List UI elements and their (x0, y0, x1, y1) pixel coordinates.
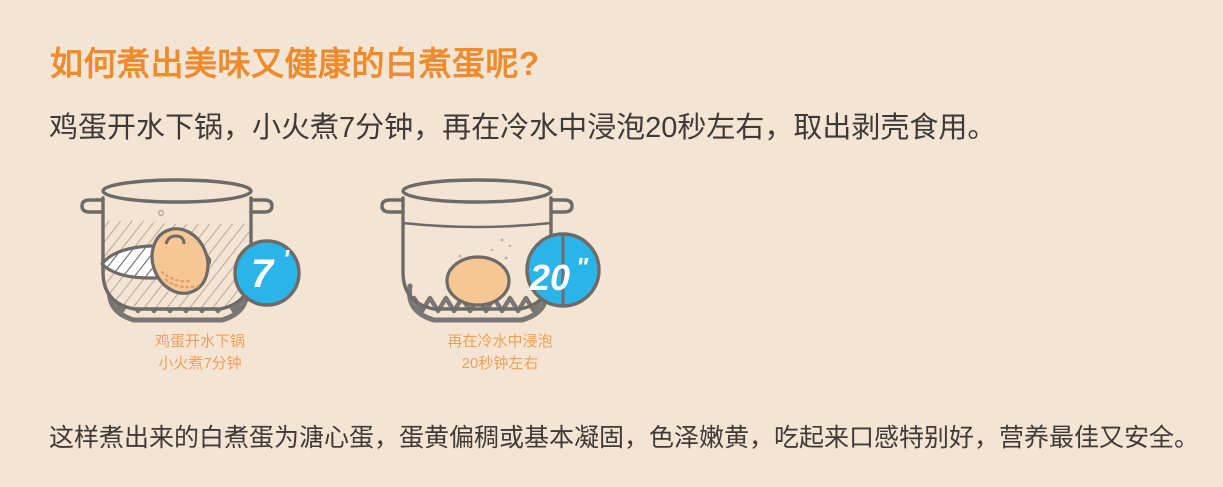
infographic-page: 如何煮出美味又健康的白煮蛋呢? 鸡蛋开水下锅，小火煮7分钟，再在冷水中浸泡20秒… (0, 0, 1223, 487)
footer-paragraph: 这样煮出来的白煮蛋为溏心蛋，蛋黄偏稠或基本凝固，色泽嫩黄，吃起来口感特别好，营养… (49, 418, 1199, 454)
step-2-caption: 再在冷水中浸泡 20秒钟左右 (370, 331, 630, 375)
illustration-group: 7 ' 鸡蛋开水下锅 小火煮7分钟 (60, 168, 620, 383)
timer-badge-20: 20 " (527, 234, 599, 306)
step-1-block: 7 ' 鸡蛋开水下锅 小火煮7分钟 (70, 168, 330, 383)
timer-badge-20-unit: " (576, 252, 589, 282)
timer-badge-7-unit: ' (283, 244, 290, 274)
step-2-caption-line-2: 20秒钟左右 (370, 353, 630, 375)
intro-paragraph: 鸡蛋开水下锅，小火煮7分钟，再在冷水中浸泡20秒左右，取出剥壳食用。 (49, 110, 996, 148)
timer-badge-7-value: 7 (251, 252, 275, 296)
timer-badge-20-value: 20 (529, 257, 570, 298)
page-title: 如何煮出美味又健康的白煮蛋呢? (50, 44, 540, 84)
step-2-block: 20 " 再在冷水中浸泡 20秒钟左右 (370, 168, 630, 383)
egg-icon (447, 257, 509, 305)
bubble-icon (159, 211, 164, 216)
pot-boiling-with-egg-and-ladle-icon: 7 ' (70, 168, 330, 328)
step-1-caption-line-1: 鸡蛋开水下锅 (70, 331, 330, 353)
step-2-caption-line-1: 再在冷水中浸泡 (370, 331, 630, 353)
pot-cold-water-with-egg-icon: 20 " (370, 168, 630, 328)
step-1-caption-line-2: 小火煮7分钟 (70, 353, 330, 375)
step-1-caption: 鸡蛋开水下锅 小火煮7分钟 (70, 331, 330, 375)
timer-badge-7: 7 ' (235, 241, 299, 305)
